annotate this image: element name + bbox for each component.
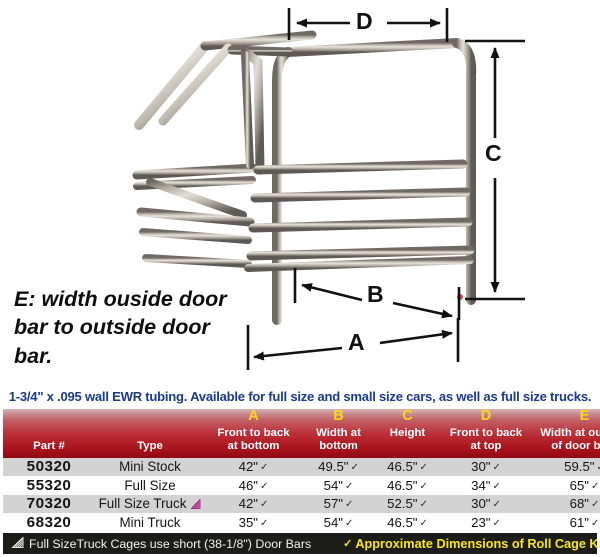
header-col-a: A Front to back at bottom <box>205 409 302 458</box>
cell-b-value: 57" <box>324 496 343 511</box>
check-icon: ✓ <box>492 499 500 510</box>
cell-e: 61"✓ <box>532 513 600 532</box>
dimension-label-a: A <box>348 331 365 354</box>
cell-d: 30"✓ <box>440 495 532 514</box>
header-col-d: D Front to back at top <box>440 409 532 458</box>
check-icon: ✓ <box>591 481 599 492</box>
truck-footnote-icon <box>11 537 24 551</box>
cell-part: 55320 <box>3 476 95 495</box>
header-part-label: Part # <box>33 440 65 452</box>
cell-type: Mini Stock <box>95 458 205 477</box>
check-icon: ✓ <box>419 518 427 529</box>
header-letter-c: C <box>377 409 438 425</box>
check-icon: ✓ <box>492 462 500 473</box>
cell-type: Full Size <box>95 476 205 495</box>
roll-cage-illustration: D C B A E: width ouside door bar to outs… <box>0 0 600 386</box>
cell-e: 68"✓ <box>532 495 600 514</box>
header-col-e-line1: Width at outside <box>540 427 600 439</box>
cell-b-value: 54" <box>324 515 343 530</box>
header-letter-a: A <box>207 409 300 425</box>
cell-d-value: 30" <box>471 459 490 474</box>
dimension-label-b: B <box>367 283 384 306</box>
table-body: 50320 Mini Stock 42"✓ 49.5"✓ 46.5"✓ 30"✓… <box>3 458 600 532</box>
tubing-spec-subtitle: 1-3/4" x .095 wall EWR tubing. Available… <box>0 389 600 404</box>
cell-part: 50320 <box>3 458 95 477</box>
header-part-number: Part # <box>3 409 95 458</box>
header-col-d-line2: at top <box>470 440 501 452</box>
table-row: 55320 Full Size 46"✓ 54"✓ 46.5"✓ 34"✓ 65… <box>3 476 600 495</box>
cell-e-value: 65" <box>570 478 589 493</box>
cell-a-value: 42" <box>239 459 258 474</box>
header-letter-blank-2 <box>97 422 203 438</box>
check-icon: ✓ <box>591 518 599 529</box>
header-col-b-line1: Width at <box>316 427 361 439</box>
footnote-truck-bars: Full SizeTruck Cages use short (38-1/8")… <box>11 537 311 551</box>
check-icon: ✓ <box>492 518 500 529</box>
footnote-approximate-dimensions: ✓ Approximate Dimensions of Roll Cage Ki… <box>343 537 600 551</box>
header-col-e: E Width at outside of door bars <box>532 409 600 458</box>
cell-part: 70320 <box>3 495 95 514</box>
cell-c: 52.5"✓ <box>375 495 440 514</box>
header-col-b: B Width at bottom <box>302 409 375 458</box>
cell-b: 57"✓ <box>302 495 375 514</box>
cell-a: 42"✓ <box>205 458 302 477</box>
roll-cage-spec-table-wrapper: Part # Type A Front to back at bottom B … <box>3 409 597 532</box>
header-letter-d: D <box>442 409 530 425</box>
check-icon: ✓ <box>350 462 358 473</box>
cell-c-value: 46.5" <box>387 459 417 474</box>
dimension-label-c: C <box>485 142 502 165</box>
header-col-c: C Height <box>375 409 440 458</box>
cell-type: Mini Truck <box>95 513 205 532</box>
header-type: Type <box>95 409 205 458</box>
cell-e-value: 59.5" <box>564 459 594 474</box>
cell-e: 59.5"✓ <box>532 458 600 477</box>
header-col-c-line1: Height <box>390 427 425 439</box>
cage-main-hoop <box>232 43 471 320</box>
cell-e-value: 61" <box>570 515 589 530</box>
cell-d: 23"✓ <box>440 513 532 532</box>
table-header: Part # Type A Front to back at bottom B … <box>3 409 600 458</box>
header-col-a-line2: at bottom <box>228 440 280 452</box>
check-icon: ✓ <box>419 499 427 510</box>
cell-d-value: 23" <box>471 515 490 530</box>
header-letter-e: E <box>534 409 600 425</box>
cell-a: 42"✓ <box>205 495 302 514</box>
cell-c-value: 52.5" <box>387 496 417 511</box>
check-icon: ✓ <box>492 481 500 492</box>
cell-a-value: 35" <box>239 515 258 530</box>
cell-type-text: Full Size Truck <box>99 496 187 511</box>
cell-e-value: 68" <box>570 496 589 511</box>
footnote-truck-bars-text: Full SizeTruck Cages use short (38-1/8")… <box>29 537 311 551</box>
cell-b: 49.5"✓ <box>302 458 375 477</box>
cell-d: 30"✓ <box>440 458 532 477</box>
cell-type: Full Size Truck <box>95 495 205 514</box>
check-icon: ✓ <box>345 481 353 492</box>
header-col-b-line2: bottom <box>319 440 358 452</box>
table-footnote-bar: Full SizeTruck Cages use short (38-1/8")… <box>3 533 597 554</box>
cell-b-value: 54" <box>324 478 343 493</box>
cell-d-value: 30" <box>471 496 490 511</box>
cell-c-value: 46.5" <box>387 478 417 493</box>
header-col-a-line1: Front to back <box>217 427 289 439</box>
cell-e: 65"✓ <box>532 476 600 495</box>
check-icon: ✓ <box>591 499 599 510</box>
header-type-label: Type <box>137 440 163 452</box>
cell-type-text: Mini Truck <box>119 515 180 530</box>
header-col-e-line2: of door bars <box>551 440 600 452</box>
cell-b: 54"✓ <box>302 513 375 532</box>
check-icon: ✓ <box>343 537 352 550</box>
cell-c-value: 46.5" <box>387 515 417 530</box>
footnote-approximate-text: Approximate Dimensions of Roll Cage Kits <box>355 537 600 551</box>
cell-a: 46"✓ <box>205 476 302 495</box>
check-icon: ✓ <box>260 499 268 510</box>
cell-c: 46.5"✓ <box>375 458 440 477</box>
cell-d: 34"✓ <box>440 476 532 495</box>
truck-footnote-icon <box>190 497 201 507</box>
header-col-d-line1: Front to back <box>450 427 522 439</box>
table-row: 50320 Mini Stock 42"✓ 49.5"✓ 46.5"✓ 30"✓… <box>3 458 600 477</box>
dimension-label-d: D <box>356 10 373 33</box>
check-icon: ✓ <box>419 481 427 492</box>
check-icon: ✓ <box>345 499 353 510</box>
dimension-e-note: E: width ouside door bar to outside door… <box>14 285 244 370</box>
table-row: 68320 Mini Truck 35"✓ 54"✓ 46.5"✓ 23"✓ 6… <box>3 513 600 532</box>
cage-door-bars <box>143 164 470 264</box>
table-row: 70320 Full Size Truck 42"✓ 57"✓ 52.5"✓ 3… <box>3 495 600 514</box>
check-icon: ✓ <box>345 518 353 529</box>
cell-b: 54"✓ <box>302 476 375 495</box>
roll-cage-spec-table: Part # Type A Front to back at bottom B … <box>3 409 600 532</box>
check-icon: ✓ <box>596 462 600 473</box>
header-letter-b: B <box>304 409 373 425</box>
cell-a-value: 46" <box>239 478 258 493</box>
check-icon: ✓ <box>260 518 268 529</box>
cell-c: 46.5"✓ <box>375 513 440 532</box>
cell-a: 35"✓ <box>205 513 302 532</box>
cell-d-value: 34" <box>471 478 490 493</box>
roll-cage-spec-page: D C B A E: width ouside door bar to outs… <box>0 0 600 557</box>
check-icon: ✓ <box>419 462 427 473</box>
header-letter-blank-1 <box>5 422 93 438</box>
check-icon: ✓ <box>260 462 268 473</box>
cell-b-value: 49.5" <box>318 459 348 474</box>
cell-type-text: Mini Stock <box>119 459 181 474</box>
check-icon: ✓ <box>260 481 268 492</box>
cell-part: 68320 <box>3 513 95 532</box>
cell-type-text: Full Size <box>124 478 175 493</box>
cell-c: 46.5"✓ <box>375 476 440 495</box>
cell-a-value: 42" <box>239 496 258 511</box>
header-col-c-line2 <box>406 440 409 452</box>
